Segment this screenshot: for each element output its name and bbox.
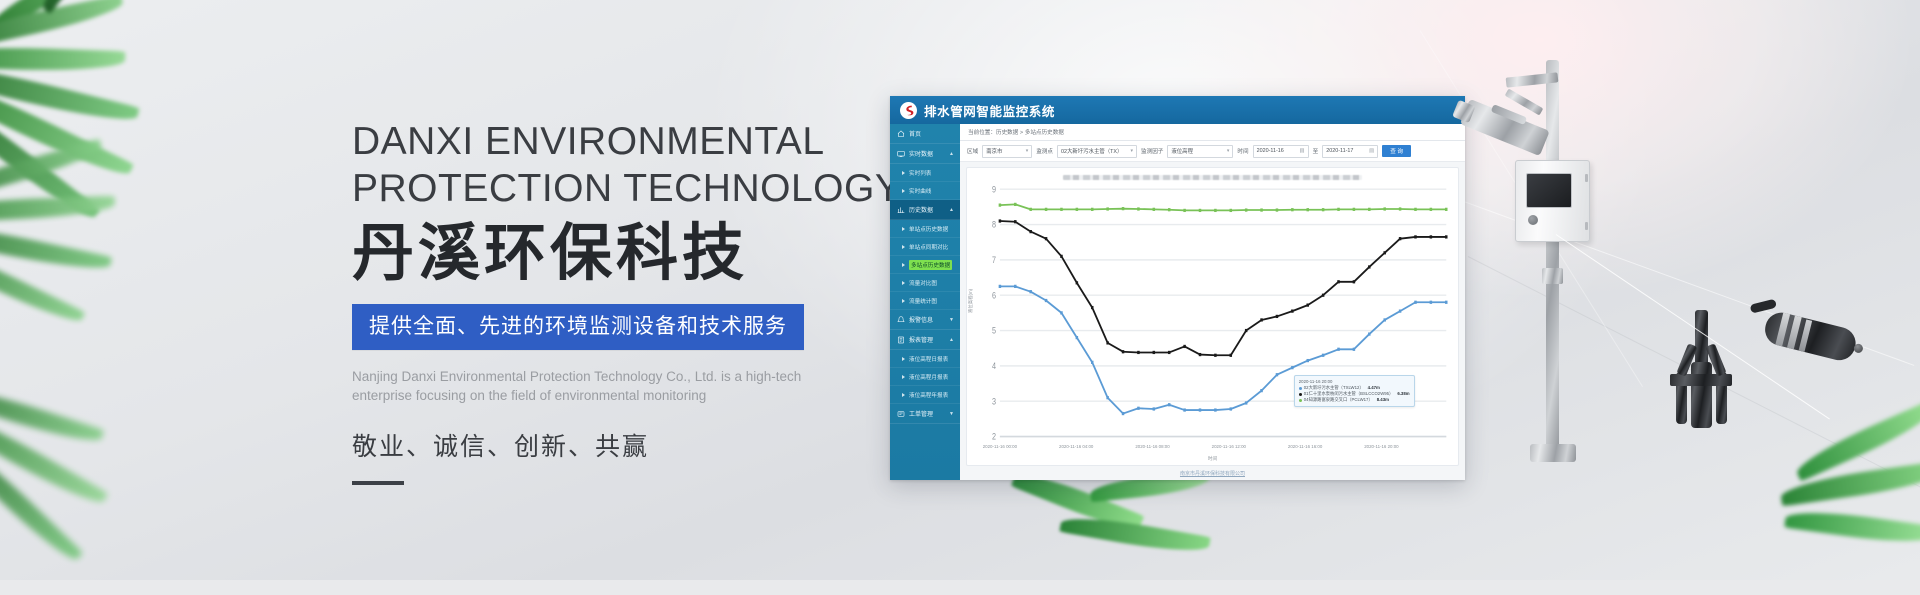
sidebar-label: 报警信息 xyxy=(909,315,933,324)
chevron-down-icon: ▾ xyxy=(1026,148,1029,154)
app-sidebar[interactable]: 首页 实时数据 ▲ 实时列表 实时曲线 历史数据 xyxy=(890,124,960,480)
chart-data-point xyxy=(1045,208,1048,211)
chart-data-point xyxy=(1214,354,1217,357)
sidebar-label: 实时列表 xyxy=(909,169,931,177)
home-icon xyxy=(897,130,905,138)
search-button[interactable]: 查 询 xyxy=(1382,145,1411,157)
tooltip-row: 04知源路富泉路交叉口（PCLW17） 8.43m xyxy=(1299,397,1410,403)
chart-data-point xyxy=(1322,354,1325,357)
s-swoosh-logo-icon xyxy=(900,102,917,119)
time-label: 时间 xyxy=(1237,147,1248,155)
chart-data-point xyxy=(1045,237,1048,240)
app-footer: 南京市丹溪环保科技有限公司 xyxy=(960,466,1465,480)
sidebar-item-level-yearly-report[interactable]: 液位高程年报表 xyxy=(890,386,960,404)
chart-data-point xyxy=(1091,361,1094,364)
bamboo-leaf-flying-center xyxy=(1000,470,1260,590)
chart-data-point xyxy=(1353,348,1356,351)
chart-data-point xyxy=(1199,353,1202,356)
calendar-icon: ▤ xyxy=(1369,148,1374,154)
sidebar-label: 单站点同期对比 xyxy=(909,243,948,251)
chart-data-point xyxy=(1137,407,1140,410)
y-axis-tick: 7 xyxy=(992,254,996,265)
sidebar-item-single-station-compare[interactable]: 单站点同期对比 xyxy=(890,238,960,256)
chevron-up-icon: ▲ xyxy=(949,337,954,343)
chart-data-point xyxy=(1337,280,1340,283)
chart-data-point xyxy=(1399,207,1402,210)
line-chart-plot[interactable]: 液位高程(m) 23456789 2020-11-16 20:00 02大新圩污… xyxy=(972,183,1453,444)
x-axis-tick-labels: 2020-11-16 00:002020-11-16 04:002020-11-… xyxy=(972,444,1453,456)
chevron-up-icon: ▲ xyxy=(949,207,954,213)
chart-icon xyxy=(897,206,905,214)
x-axis-tick: 2020-11-16 00:00 xyxy=(983,444,1017,449)
sidebar-label: 首页 xyxy=(909,129,921,138)
chart-data-point xyxy=(1014,220,1017,223)
company-description: Nanjing Danxi Environmental Protection T… xyxy=(352,367,822,405)
bullet-icon xyxy=(902,357,905,361)
chart-data-point xyxy=(1153,407,1156,410)
chart-data-point xyxy=(1029,230,1032,233)
chart-data-point xyxy=(1368,208,1371,211)
sidebar-item-history-data[interactable]: 历史数据 ▲ xyxy=(890,200,960,220)
date-from-value: 2020-11-16 xyxy=(1257,148,1284,154)
y-axis-tick: 6 xyxy=(992,289,996,300)
chart-data-point xyxy=(1337,348,1340,351)
chart-data-point xyxy=(1399,237,1402,240)
date-to-input[interactable]: 2020-11-17 ▤ xyxy=(1322,145,1378,158)
sidebar-label: 单站点历史数据 xyxy=(909,225,948,233)
chart-data-point xyxy=(1368,265,1371,268)
bullet-icon xyxy=(902,245,905,249)
chart-data-point xyxy=(1045,299,1048,302)
chart-tooltip: 2020-11-16 20:00 02大新圩污水主管（TXLW12） 4.47m… xyxy=(1294,375,1415,408)
sensor-cable-line xyxy=(1556,234,1830,419)
level-probe-icon xyxy=(1749,300,1870,385)
company-motto: 敬业、诚信、创新、共赢 xyxy=(352,427,912,463)
bullet-icon xyxy=(902,299,905,303)
chevron-down-icon: ▾ xyxy=(1227,148,1230,154)
chart-data-point xyxy=(1076,281,1079,284)
chart-data-point xyxy=(1445,235,1448,238)
series-color-dot xyxy=(1299,393,1302,396)
chart-data-point xyxy=(1076,208,1079,211)
chart-data-point xyxy=(1260,208,1263,211)
chart-data-point xyxy=(1029,208,1032,211)
banner-stage: DANXI ENVIRONMENTAL PROTECTION TECHNOLOG… xyxy=(0,0,1920,580)
chart-data-point xyxy=(1014,203,1017,206)
chart-data-point xyxy=(1276,373,1279,376)
x-axis-label: 时间 xyxy=(972,456,1453,463)
chevron-up-icon: ▲ xyxy=(949,151,954,157)
chart-data-point xyxy=(1153,208,1156,211)
chart-data-point xyxy=(1168,208,1171,211)
chart-data-point xyxy=(1060,208,1063,211)
chart-data-point xyxy=(1245,401,1248,404)
chart-data-point xyxy=(1168,351,1171,354)
date-to-value: 2020-11-17 xyxy=(1326,148,1353,154)
chart-data-point xyxy=(999,285,1002,288)
camera-cross-arm xyxy=(1506,72,1559,87)
chart-data-point xyxy=(1337,208,1340,211)
chart-data-point xyxy=(1137,351,1140,354)
y-axis-tick: 4 xyxy=(992,360,996,371)
tooltip-series-name: 04知源路富泉路交叉口（PCLW17） xyxy=(1304,397,1373,403)
bullet-icon xyxy=(902,263,905,267)
sidebar-label: 实时数据 xyxy=(909,149,933,158)
tooltip-series-value: 8.43m xyxy=(1377,397,1389,403)
bullet-icon xyxy=(902,227,905,231)
date-separator: 至 xyxy=(1313,147,1319,155)
tooltip-time: 2020-11-16 20:00 xyxy=(1299,379,1410,384)
y-axis-tick: 3 xyxy=(992,395,996,406)
station-select[interactable]: 02大新圩污水主管（TX） ▾ xyxy=(1057,145,1137,158)
chart-data-point xyxy=(1276,315,1279,318)
chart-data-point xyxy=(1430,301,1433,304)
region-value: 南京市 xyxy=(986,147,1022,155)
chart-data-point xyxy=(1430,235,1433,238)
chevron-down-icon: ▼ xyxy=(949,317,954,323)
chart-data-point xyxy=(1399,309,1402,312)
chart-data-point xyxy=(1230,407,1233,410)
app-content: 当前位置：历史数据 > 多站点历史数据 区域 南京市 ▾ 监测点 02大新圩污水… xyxy=(960,124,1465,480)
chart-data-point xyxy=(1230,354,1233,357)
chart-data-point xyxy=(1445,301,1448,304)
chart-series-line xyxy=(1000,204,1446,210)
chart-data-point xyxy=(1230,209,1233,212)
sidebar-label: 报表管理 xyxy=(909,335,933,344)
chart-data-point xyxy=(1076,336,1079,339)
date-from-input[interactable]: 2020-11-16 ▤ xyxy=(1253,145,1309,158)
cabinet-lock-knob xyxy=(1528,215,1538,225)
chart-data-point xyxy=(1091,208,1094,211)
chart-data-point xyxy=(1106,207,1109,210)
hero-copy: DANXI ENVIRONMENTAL PROTECTION TECHNOLOG… xyxy=(352,118,912,485)
chart-data-point xyxy=(1091,306,1094,309)
chart-data-point xyxy=(1199,209,1202,212)
mounting-pole xyxy=(1546,60,1559,460)
chart-data-point xyxy=(999,219,1002,222)
chart-data-point xyxy=(1183,408,1186,411)
sidebar-item-alarm-info[interactable]: 报警信息 ▼ xyxy=(890,310,960,330)
cabinet-display-screen xyxy=(1526,173,1572,208)
factor-label: 监测因子 xyxy=(1141,147,1163,155)
chart-data-point xyxy=(1260,318,1263,321)
y-axis-tick: 5 xyxy=(992,325,996,336)
chevron-down-icon: ▼ xyxy=(949,411,954,417)
app-body: 首页 实时数据 ▲ 实时列表 实时曲线 历史数据 xyxy=(890,124,1465,480)
footer-company-link[interactable]: 南京市丹溪环保科技有限公司 xyxy=(1180,470,1245,477)
chart-data-point xyxy=(1383,207,1386,210)
bullet-icon xyxy=(902,281,905,285)
sidebar-label: 流量统计图 xyxy=(909,297,937,305)
chart-card: 液位高程(m) 23456789 2020-11-16 20:00 02大新圩污… xyxy=(966,167,1459,466)
sidebar-item-flow-statistics-chart[interactable]: 流量统计图 xyxy=(890,292,960,310)
x-axis-tick: 2020-11-16 16:00 xyxy=(1288,444,1322,449)
camera-bracket xyxy=(1505,89,1544,116)
chart-data-point xyxy=(1122,207,1125,210)
factor-value: 液位高程 xyxy=(1171,147,1223,155)
chart-data-point xyxy=(1245,208,1248,211)
cctv-camera-icon xyxy=(1459,95,1551,159)
chart-data-point xyxy=(1322,208,1325,211)
chart-data-point xyxy=(1430,208,1433,211)
x-axis-tick: 2020-11-16 20:00 xyxy=(1364,444,1398,449)
chart-data-point xyxy=(1322,294,1325,297)
bamboo-leaf-cluster-bottom-right xyxy=(1790,420,1920,590)
sidebar-item-work-order-management[interactable]: 工单管理 ▼ xyxy=(890,404,960,424)
app-title: 排水管网智能监控系统 xyxy=(924,101,1055,120)
chart-data-point xyxy=(1214,408,1217,411)
chart-data-point xyxy=(1214,209,1217,212)
region-label: 区域 xyxy=(967,147,978,155)
sidebar-item-level-daily-report[interactable]: 液位高程日报表 xyxy=(890,350,960,368)
chart-data-point xyxy=(1276,208,1279,211)
monitor-icon xyxy=(897,150,905,158)
region-select[interactable]: 南京市 ▾ xyxy=(982,145,1032,158)
chart-data-point xyxy=(1383,318,1386,321)
chart-title-text xyxy=(1063,175,1361,180)
tooltip-series-value: 6.38m xyxy=(1397,391,1409,397)
chart-data-point xyxy=(1183,345,1186,348)
chart-data-point xyxy=(1014,285,1017,288)
chart-data-point xyxy=(1306,303,1309,306)
chart-data-point xyxy=(999,203,1002,206)
sidebar-item-single-station-history[interactable]: 单站点历史数据 xyxy=(890,220,960,238)
sidebar-item-realtime-curve[interactable]: 实时曲线 xyxy=(890,182,960,200)
chart-data-point xyxy=(1260,389,1263,392)
chart-data-point xyxy=(1368,332,1371,335)
pole-base xyxy=(1530,444,1576,462)
chart-data-point xyxy=(1414,235,1417,238)
x-axis-tick: 2020-11-16 08:00 xyxy=(1135,444,1169,449)
sidebar-label: 历史数据 xyxy=(909,205,933,214)
bullet-icon xyxy=(902,171,905,175)
chart-data-point xyxy=(1153,351,1156,354)
y-axis-tick: 8 xyxy=(992,219,996,230)
sidebar-item-home[interactable]: 首页 xyxy=(890,124,960,144)
filter-toolbar[interactable]: 区域 南京市 ▾ 监测点 02大新圩污水主管（TX） ▾ 监测因子 液位高程 ▾ xyxy=(960,141,1465,162)
x-axis-tick: 2020-11-16 04:00 xyxy=(1059,444,1093,449)
x-axis-tick: 2020-11-16 12:00 xyxy=(1212,444,1246,449)
sidebar-item-realtime-list[interactable]: 实时列表 xyxy=(890,164,960,182)
chart-data-point xyxy=(1291,309,1294,312)
chart-title xyxy=(972,172,1453,183)
sidebar-label: 液位高程年报表 xyxy=(909,391,948,399)
calendar-icon: ▤ xyxy=(1300,148,1305,154)
report-icon xyxy=(897,336,905,344)
chart-data-point xyxy=(1306,208,1309,211)
chart-data-point xyxy=(1137,207,1140,210)
bullet-icon xyxy=(902,375,905,379)
sidebar-item-multi-station-history[interactable]: 多站点历史数据 xyxy=(890,256,960,274)
sidebar-label: 多站点历史数据 xyxy=(909,260,952,270)
series-color-dot xyxy=(1299,387,1302,390)
chart-data-point xyxy=(1414,208,1417,211)
sidebar-item-realtime-data[interactable]: 实时数据 ▲ xyxy=(890,144,960,164)
chart-data-point xyxy=(1183,209,1186,212)
y-axis-tick: 2 xyxy=(992,431,996,442)
english-heading-line-1: DANXI ENVIRONMENTAL xyxy=(352,118,912,165)
water-quality-sensor-icon xyxy=(1670,310,1732,440)
chart-series-line xyxy=(1000,221,1446,355)
breadcrumb: 当前位置：历史数据 > 多站点历史数据 xyxy=(960,124,1465,141)
sidebar-item-report-management[interactable]: 报表管理 ▲ xyxy=(890,330,960,350)
accent-rule xyxy=(352,481,404,485)
chart-data-point xyxy=(1414,301,1417,304)
sidebar-label: 液位高程月报表 xyxy=(909,373,948,381)
chart-data-point xyxy=(1168,403,1171,406)
chevron-down-icon: ▾ xyxy=(1130,148,1133,154)
chart-data-point xyxy=(1306,359,1309,362)
station-value: 02大新圩污水主管（TX） xyxy=(1061,147,1127,155)
chart-data-point xyxy=(1353,208,1356,211)
pole-collar xyxy=(1542,268,1563,284)
app-titlebar: 排水管网智能监控系统 xyxy=(890,96,1465,124)
chart-data-point xyxy=(1122,412,1125,415)
sidebar-label: 实时曲线 xyxy=(909,187,931,195)
chart-data-point xyxy=(1060,311,1063,314)
sidebar-label: 流量对比图 xyxy=(909,279,937,287)
chart-data-point xyxy=(1029,290,1032,293)
chart-data-point xyxy=(1060,255,1063,258)
chart-data-point xyxy=(1199,408,1202,411)
bullet-icon xyxy=(902,393,905,397)
sidebar-item-level-monthly-report[interactable]: 液位高程月报表 xyxy=(890,368,960,386)
chart-data-point xyxy=(1353,280,1356,283)
bamboo-leaf-cluster-mid-left xyxy=(0,155,200,355)
chart-data-point xyxy=(1445,208,1448,211)
chart-data-point xyxy=(1106,396,1109,399)
control-cabinet-icon xyxy=(1515,160,1590,242)
monitoring-system-window[interactable]: 排水管网智能监控系统 首页 实时数据 ▲ 实时列表 xyxy=(890,96,1465,480)
sidebar-item-flow-compare-chart[interactable]: 流量对比图 xyxy=(890,274,960,292)
bamboo-leaf-cluster-bottom-left xyxy=(0,395,185,595)
chart-data-point xyxy=(1291,208,1294,211)
series-color-dot xyxy=(1299,399,1302,402)
chart-data-point xyxy=(1245,329,1248,332)
factor-select[interactable]: 液位高程 ▾ xyxy=(1167,145,1233,158)
bullet-icon xyxy=(902,189,905,193)
chinese-heading: 丹溪环保科技 xyxy=(352,218,912,290)
chart-data-point xyxy=(1291,366,1294,369)
station-label: 监测点 xyxy=(1036,147,1053,155)
chart-data-point xyxy=(1122,350,1125,353)
chart-data-point xyxy=(1383,251,1386,254)
chart-data-point xyxy=(1106,341,1109,344)
english-heading-line-2: PROTECTION TECHNOLOGY xyxy=(352,165,912,212)
bell-icon xyxy=(897,316,905,324)
hero-tagline: 提供全面、先进的环境监测设备和技术服务 xyxy=(352,304,804,350)
sidebar-label: 液位高程日报表 xyxy=(909,355,948,363)
ticket-icon xyxy=(897,410,905,418)
y-axis-tick: 9 xyxy=(992,183,996,194)
sidebar-label: 工单管理 xyxy=(909,409,933,418)
